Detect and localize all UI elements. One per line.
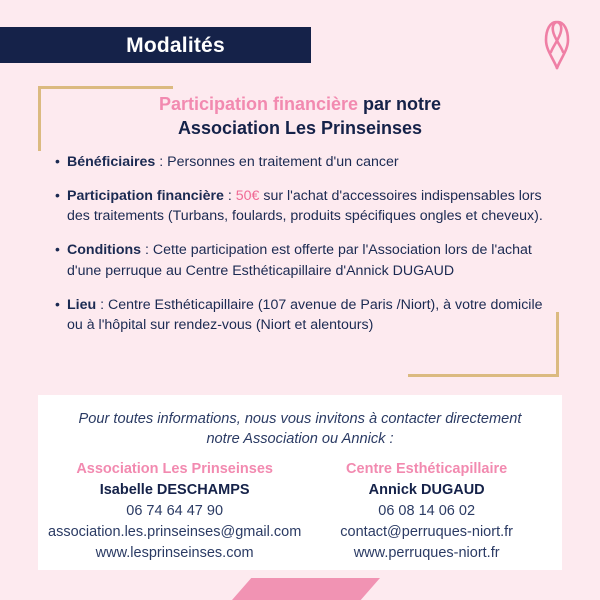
contact-panel: Pour toutes informations, nous vous invi… bbox=[38, 395, 562, 570]
contact-email[interactable]: contact@perruques-niort.fr bbox=[301, 522, 552, 543]
contact-person-name: Annick DUGAUD bbox=[301, 480, 552, 501]
list-item-text: Participation financière : 50€ sur l'ach… bbox=[67, 186, 555, 226]
list-item-separator: : bbox=[96, 297, 108, 313]
list-item-label: Participation financière bbox=[67, 188, 224, 204]
list-item-text: Bénéficiaires : Personnes en traitement … bbox=[67, 152, 555, 172]
poster-canvas: Modalités Participation financière par n… bbox=[0, 0, 600, 600]
bullet-dot-icon: • bbox=[55, 240, 67, 260]
pink-awareness-ribbon-icon bbox=[540, 18, 574, 70]
contact-intro-line1: Pour toutes informations, nous vous invi… bbox=[79, 411, 522, 427]
list-item-separator: : bbox=[224, 188, 236, 204]
page-title: Modalités bbox=[126, 35, 225, 56]
list-item-separator: : bbox=[155, 154, 167, 170]
contact-card-centre: Centre Esthéticapillaire Annick DUGAUD 0… bbox=[301, 459, 552, 564]
contact-website[interactable]: www.lesprinseinses.com bbox=[48, 543, 301, 564]
bottom-decorative-shape bbox=[232, 578, 380, 600]
headline-highlight: Participation financière bbox=[159, 94, 358, 114]
list-item-separator: : bbox=[141, 242, 153, 258]
amount-value: 50€ bbox=[236, 188, 260, 204]
contact-person-name: Isabelle DESCHAMPS bbox=[48, 480, 301, 501]
contact-columns: Association Les Prinseinses Isabelle DES… bbox=[48, 459, 552, 564]
list-item: • Participation financière : 50€ sur l'a… bbox=[55, 186, 555, 226]
list-item: • Conditions : Cette participation est o… bbox=[55, 240, 555, 280]
list-item-text: Conditions : Cette participation est off… bbox=[67, 240, 555, 280]
bullet-dot-icon: • bbox=[55, 152, 67, 172]
bullet-dot-icon: • bbox=[55, 295, 67, 315]
contact-card-association: Association Les Prinseinses Isabelle DES… bbox=[48, 459, 301, 564]
headline: Participation financière par notre Assoc… bbox=[60, 92, 540, 140]
contact-email[interactable]: association.les.prinseinses@gmail.com bbox=[48, 522, 301, 543]
list-item-label: Conditions bbox=[67, 242, 141, 258]
contact-phone[interactable]: 06 08 14 06 02 bbox=[301, 501, 552, 522]
contact-phone[interactable]: 06 74 64 47 90 bbox=[48, 501, 301, 522]
list-item: • Lieu : Centre Esthéticapillaire (107 a… bbox=[55, 295, 555, 335]
contact-intro: Pour toutes informations, nous vous invi… bbox=[56, 409, 544, 450]
title-banner: Modalités bbox=[0, 27, 311, 63]
contact-intro-line2: notre Association ou Annick : bbox=[206, 431, 393, 447]
bullet-dot-icon: • bbox=[55, 186, 67, 206]
modalities-list: • Bénéficiaires : Personnes en traitemen… bbox=[55, 152, 555, 335]
contact-website[interactable]: www.perruques-niort.fr bbox=[301, 543, 552, 564]
list-item-body: Centre Esthéticapillaire (107 avenue de … bbox=[67, 297, 543, 333]
list-item-label: Bénéficiaires bbox=[67, 154, 155, 170]
list-item: • Bénéficiaires : Personnes en traitemen… bbox=[55, 152, 555, 172]
headline-rest: par notre bbox=[358, 94, 441, 114]
list-item-label: Lieu bbox=[67, 297, 96, 313]
organisation-name: Association Les Prinseinses bbox=[48, 459, 301, 480]
list-item-body: Personnes en traitement d'un cancer bbox=[167, 154, 398, 170]
organisation-name: Centre Esthéticapillaire bbox=[301, 459, 552, 480]
list-item-text: Lieu : Centre Esthéticapillaire (107 ave… bbox=[67, 295, 555, 335]
headline-line2: Association Les Prinseinses bbox=[178, 118, 422, 138]
